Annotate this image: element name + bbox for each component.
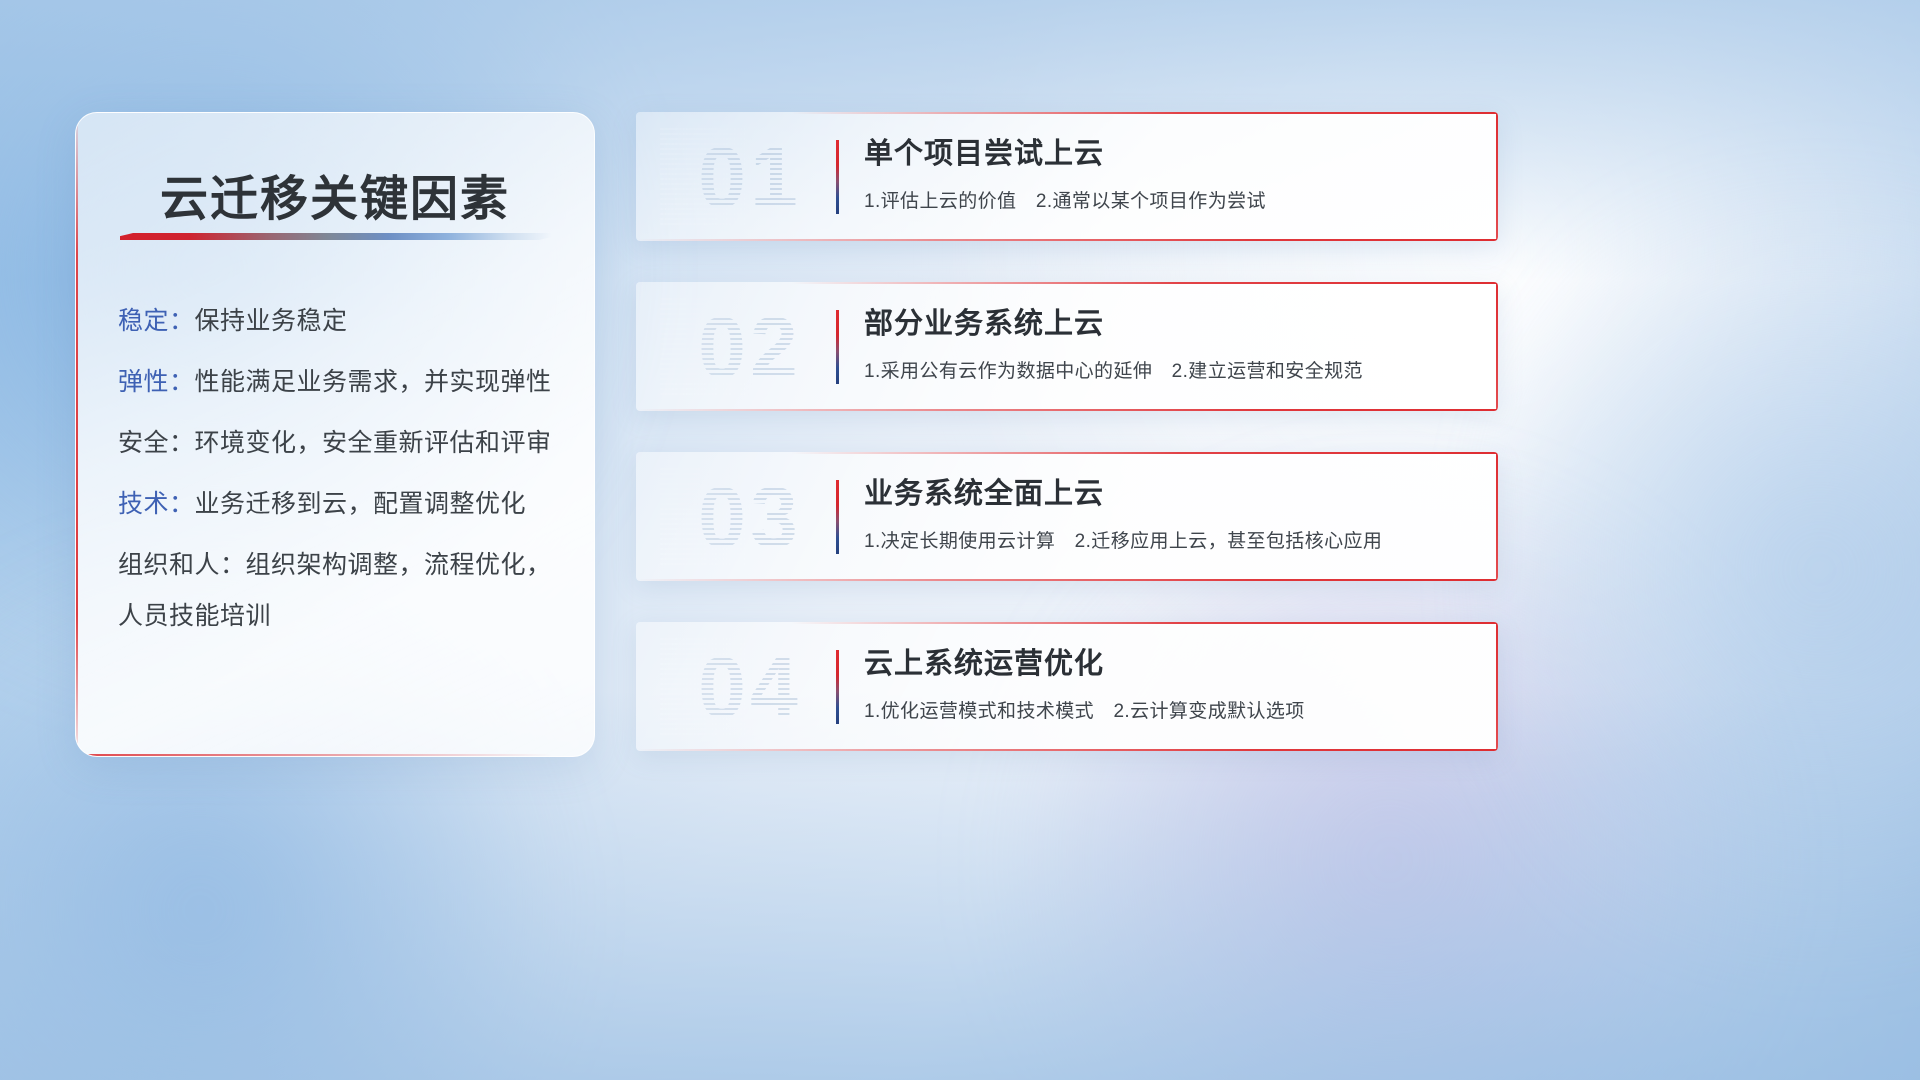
factor-row-continuation: 人员技能培训 xyxy=(118,604,564,629)
stage-body: 云上系统运营优化 1.优化运营模式和技术模式 2.云计算变成默认选项 xyxy=(864,640,1458,723)
stage-subtitle: 1.评估上云的价值 2.通常以某个项目作为尝试 xyxy=(864,186,1458,213)
stage-number-watermark: 02 xyxy=(660,298,840,398)
factor-label: 组织和人： xyxy=(118,551,246,579)
stage-card[interactable]: 03 业务系统全面上云 1.决定长期使用云计算 2.迁移应用上云，甚至包括核心应… xyxy=(636,452,1498,581)
factor-label: 稳定： xyxy=(118,307,195,335)
stage-body: 单个项目尝试上云 1.评估上云的价值 2.通常以某个项目作为尝试 xyxy=(864,130,1458,213)
stage-body: 部分业务系统上云 1.采用公有云作为数据中心的延伸 2.建立运营和安全规范 xyxy=(864,300,1458,383)
stage-accent-bar xyxy=(836,650,839,724)
factor-row: 弹性：性能满足业务需求，并实现弹性 xyxy=(118,370,564,395)
factor-text: 环境变化，安全重新评估和评审 xyxy=(195,429,552,457)
stage-card[interactable]: 02 部分业务系统上云 1.采用公有云作为数据中心的延伸 2.建立运营和安全规范 xyxy=(636,282,1498,411)
stage-accent-bar xyxy=(836,480,839,554)
stage-card[interactable]: 01 单个项目尝试上云 1.评估上云的价值 2.通常以某个项目作为尝试 xyxy=(636,112,1498,241)
stage-card-baseline xyxy=(636,579,1498,581)
stage-card-list: 01 单个项目尝试上云 1.评估上云的价值 2.通常以某个项目作为尝试 02 部… xyxy=(636,112,1498,792)
factor-label: 技术： xyxy=(118,490,195,518)
factor-row: 稳定：保持业务稳定 xyxy=(118,309,564,334)
title-underline-rule xyxy=(120,233,552,240)
stage-title: 业务系统全面上云 xyxy=(864,470,1458,512)
key-factors-panel: 云迁移关键因素 稳定：保持业务稳定 弹性：性能满足业务需求，并实现弹性 安全：环… xyxy=(75,112,595,757)
factor-row: 技术：业务迁移到云，配置调整优化 xyxy=(118,492,564,517)
stage-body: 业务系统全面上云 1.决定长期使用云计算 2.迁移应用上云，甚至包括核心应用 xyxy=(864,470,1458,553)
stage-number-watermark: 04 xyxy=(660,638,840,738)
stage-number-watermark: 01 xyxy=(660,128,840,228)
factor-row: 组织和人：组织架构调整，流程优化， xyxy=(118,553,564,578)
stage-card-baseline xyxy=(636,749,1498,751)
stage-accent-bar xyxy=(836,140,839,214)
factor-label: 安全： xyxy=(118,429,195,457)
stage-title: 部分业务系统上云 xyxy=(864,300,1458,342)
stage-subtitle: 1.决定长期使用云计算 2.迁移应用上云，甚至包括核心应用 xyxy=(864,526,1458,553)
stage-accent-bar xyxy=(836,310,839,384)
stage-number-watermark: 03 xyxy=(660,468,840,568)
factor-text: 组织架构调整，流程优化， xyxy=(246,551,552,579)
factor-list: 稳定：保持业务稳定 弹性：性能满足业务需求，并实现弹性 安全：环境变化，安全重新… xyxy=(118,309,564,665)
stage-title: 单个项目尝试上云 xyxy=(864,130,1458,172)
factor-text: 人员技能培训 xyxy=(118,602,271,630)
factor-row: 安全：环境变化，安全重新评估和评审 xyxy=(118,431,564,456)
page-title: 云迁移关键因素 xyxy=(160,159,510,229)
stage-subtitle: 1.采用公有云作为数据中心的延伸 2.建立运营和安全规范 xyxy=(864,356,1458,383)
factor-text: 保持业务稳定 xyxy=(195,307,348,335)
factor-label: 弹性： xyxy=(118,368,195,396)
factor-text: 性能满足业务需求，并实现弹性 xyxy=(195,368,552,396)
factor-text: 业务迁移到云，配置调整优化 xyxy=(195,490,527,518)
stage-card-baseline xyxy=(636,239,1498,241)
stage-card-baseline xyxy=(636,409,1498,411)
stage-title: 云上系统运营优化 xyxy=(864,640,1458,682)
stage-subtitle: 1.优化运营模式和技术模式 2.云计算变成默认选项 xyxy=(864,696,1458,723)
stage-card[interactable]: 04 云上系统运营优化 1.优化运营模式和技术模式 2.云计算变成默认选项 xyxy=(636,622,1498,751)
